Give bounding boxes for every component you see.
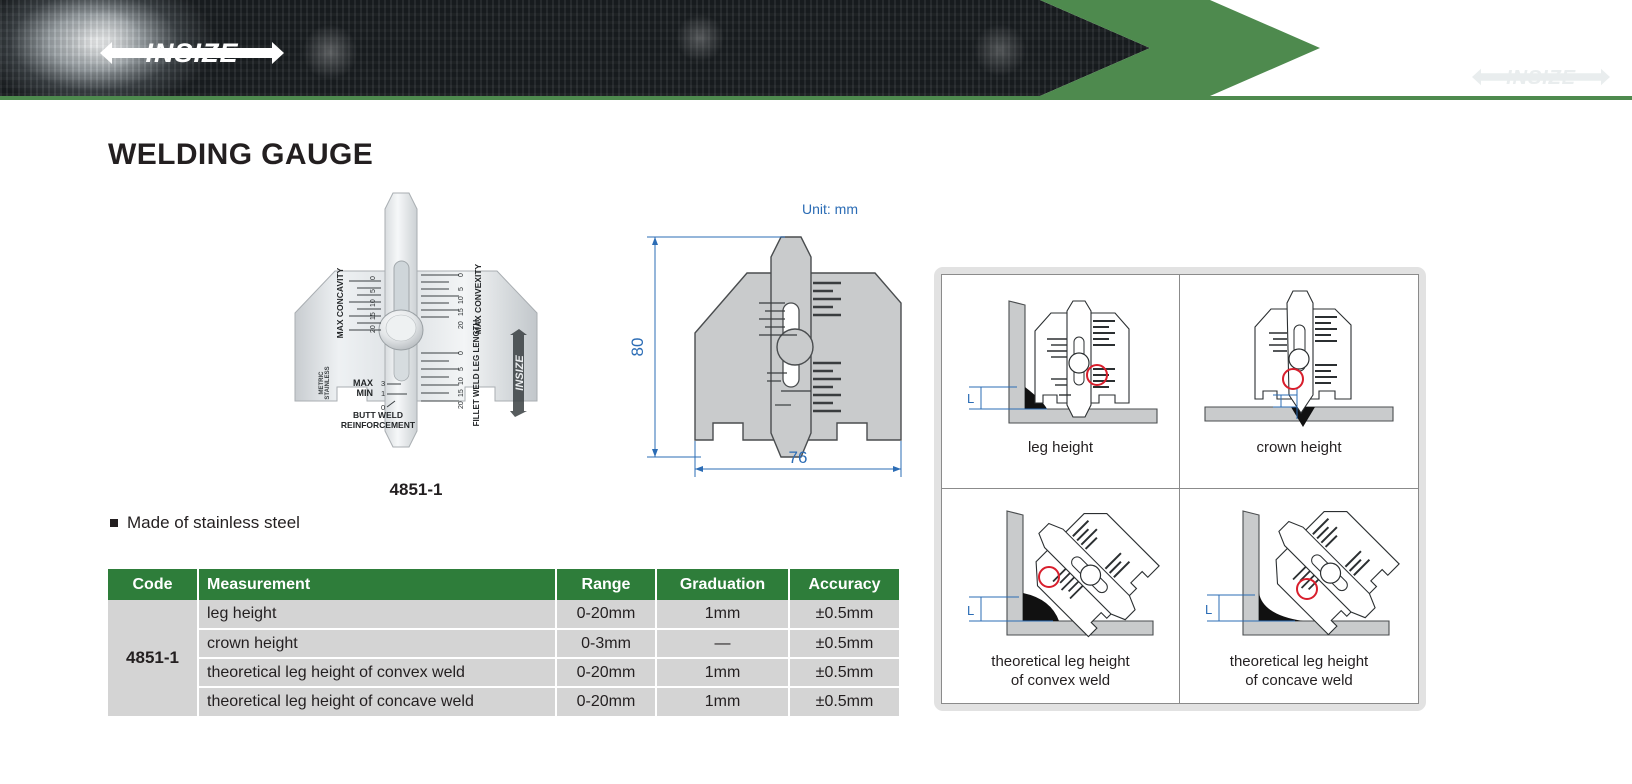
column-header-accuracy: Accuracy [789, 569, 899, 600]
cell-graduation: 1mm [656, 687, 789, 716]
application-cell-leg-height: L leg height [942, 275, 1180, 489]
svg-text:15: 15 [458, 308, 465, 316]
page-header: INSIZE INSIZE [0, 0, 1632, 100]
dimension-height-value: 80 [628, 338, 647, 357]
feature-text: Made of stainless steel [127, 513, 300, 533]
svg-text:0: 0 [370, 276, 377, 280]
page-title: WELDING GAUGE [108, 138, 373, 172]
application-label: leg height [1028, 439, 1093, 458]
leg-dimension-label: L [967, 391, 974, 406]
diagram-convex-weld: L [947, 497, 1175, 649]
cell-measurement: theoretical leg height of convex weld [198, 658, 556, 687]
application-cell-concave-weld: L theoretical leg height of concave weld [1180, 489, 1418, 703]
svg-text:5: 5 [458, 367, 465, 371]
label-butt-weld-line1: BUTT WELD [353, 410, 403, 420]
svg-text:5: 5 [370, 289, 377, 293]
application-label-line1: theoretical leg height [991, 653, 1129, 670]
application-panel: L leg height [934, 267, 1426, 711]
svg-text:INSIZE: INSIZE [514, 355, 526, 391]
svg-text:15: 15 [370, 312, 377, 320]
svg-text:0: 0 [458, 351, 465, 355]
cell-accuracy: ±0.5mm [789, 600, 899, 629]
cell-code: 4851-1 [108, 600, 198, 716]
column-header-range: Range [556, 569, 656, 600]
column-header-graduation: Graduation [656, 569, 789, 600]
svg-text:15: 15 [458, 389, 465, 397]
leg-dimension-label: L [1205, 602, 1212, 617]
insize-logo-text: INSIZE [145, 38, 238, 68]
cell-measurement: leg height [198, 600, 556, 629]
table-row: theoretical leg height of convex weld 0-… [108, 658, 899, 687]
insize-logo: INSIZE [98, 33, 286, 73]
application-label-line1: theoretical leg height [1230, 653, 1368, 670]
bullet-square-icon [110, 519, 118, 527]
svg-text:5: 5 [458, 287, 465, 291]
table-header-row: Code Measurement Range Graduation Accura… [108, 569, 899, 600]
gauge-body [295, 193, 537, 447]
cell-range: 0-20mm [556, 687, 656, 716]
svg-text:10: 10 [370, 299, 377, 307]
dimension-drawing: 80 76 [625, 195, 915, 485]
application-label: theoretical leg height of concave weld [1230, 653, 1368, 691]
product-code-caption: 4851-1 [283, 480, 549, 500]
insize-watermark-text: INSIZE [1506, 67, 1577, 89]
diagram-leg-height: L [947, 283, 1175, 435]
dimension-width-value: 76 [789, 448, 808, 467]
cell-graduation: — [656, 629, 789, 658]
application-cell-crown-height: crown height [1180, 275, 1418, 489]
cell-graduation: 1mm [656, 658, 789, 687]
cell-accuracy: ±0.5mm [789, 658, 899, 687]
application-label: crown height [1256, 439, 1341, 458]
leg-dimension-label: L [967, 603, 974, 618]
application-label: theoretical leg height of convex weld [991, 653, 1129, 691]
cell-range: 0-3mm [556, 629, 656, 658]
table-row: theoretical leg height of concave weld 0… [108, 687, 899, 716]
insize-watermark: INSIZE [1458, 62, 1624, 92]
label-min: MIN [357, 388, 374, 398]
application-cell-convex-weld: L theoretical leg height of convex weld [942, 489, 1180, 703]
cell-range: 0-20mm [556, 658, 656, 687]
svg-text:0: 0 [458, 273, 465, 277]
table-row: 4851-1 leg height 0-20mm 1mm ±0.5mm [108, 600, 899, 629]
label-max-concavity: MAX CONCAVITY [335, 267, 345, 338]
svg-text:STAINLESS: STAINLESS [325, 366, 331, 399]
cell-accuracy: ±0.5mm [789, 687, 899, 716]
product-photo-welding-gauge: 0 5 10 15 20 MAX CONCAVITY 0 5 10 15 20 … [283, 183, 549, 455]
cell-measurement: crown height [198, 629, 556, 658]
label-max: MAX [353, 378, 373, 388]
diagram-crown-height [1185, 283, 1413, 435]
label-fillet-weld-leg-length: FILLET WELD LEG LENGTH [472, 319, 481, 426]
header-green-divider [0, 96, 1632, 100]
cell-accuracy: ±0.5mm [789, 629, 899, 658]
column-header-measurement: Measurement [198, 569, 556, 600]
application-label-line2: of concave weld [1245, 672, 1353, 689]
cell-measurement: theoretical leg height of concave weld [198, 687, 556, 716]
cell-range: 0-20mm [556, 600, 656, 629]
svg-text:3: 3 [381, 379, 385, 388]
svg-text:1: 1 [381, 389, 385, 398]
cell-graduation: 1mm [656, 600, 789, 629]
feature-list-item: Made of stainless steel [110, 513, 300, 533]
svg-text:20: 20 [458, 401, 465, 409]
svg-text:10: 10 [458, 377, 465, 385]
label-butt-weld-line2: REINFORCEMENT [341, 420, 416, 430]
diagram-concave-weld: L [1185, 497, 1413, 649]
column-header-code: Code [108, 569, 198, 600]
drawing-gauge-shape [695, 237, 901, 457]
application-label-line2: of convex weld [1011, 672, 1110, 689]
svg-text:20: 20 [458, 321, 465, 329]
svg-text:20: 20 [370, 325, 377, 333]
svg-text:10: 10 [458, 296, 465, 304]
specification-table: Code Measurement Range Graduation Accura… [108, 569, 899, 716]
table-row: crown height 0-3mm — ±0.5mm [108, 629, 899, 658]
